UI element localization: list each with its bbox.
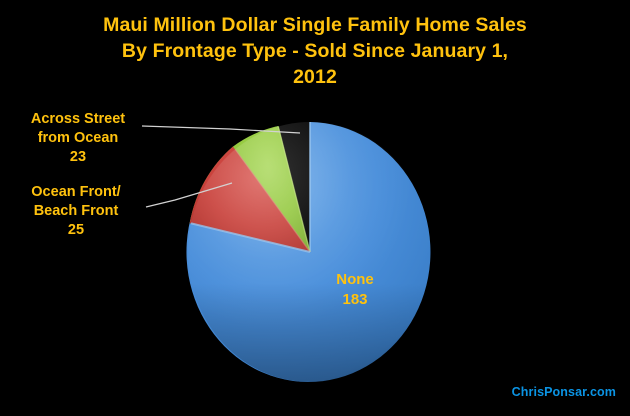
chart-canvas: Maui Million Dollar Single Family Home S… — [0, 0, 630, 416]
slice-label-ocean-front: Ocean Front/ Beach Front 25 — [4, 183, 148, 240]
slice-label-ocean-front-line2: Beach Front — [4, 202, 148, 221]
slice-label-across-street-line1: Across Street — [8, 110, 148, 129]
slice-label-across-street: Across Street from Ocean 23 — [8, 110, 148, 167]
slice-label-ocean-front-value: 25 — [4, 221, 148, 240]
slice-label-across-street-value: 23 — [8, 148, 148, 167]
slice-label-none-value: 183 — [300, 290, 410, 310]
slice-label-none-name: None — [300, 270, 410, 290]
pie-rim-shading — [188, 122, 432, 382]
watermark-chrisponsar[interactable]: ChrisPonsar.com — [512, 385, 616, 399]
slice-label-across-street-line2: from Ocean — [8, 129, 148, 148]
slice-label-none: None 183 — [300, 270, 410, 310]
slice-label-ocean-front-line1: Ocean Front/ — [4, 183, 148, 202]
